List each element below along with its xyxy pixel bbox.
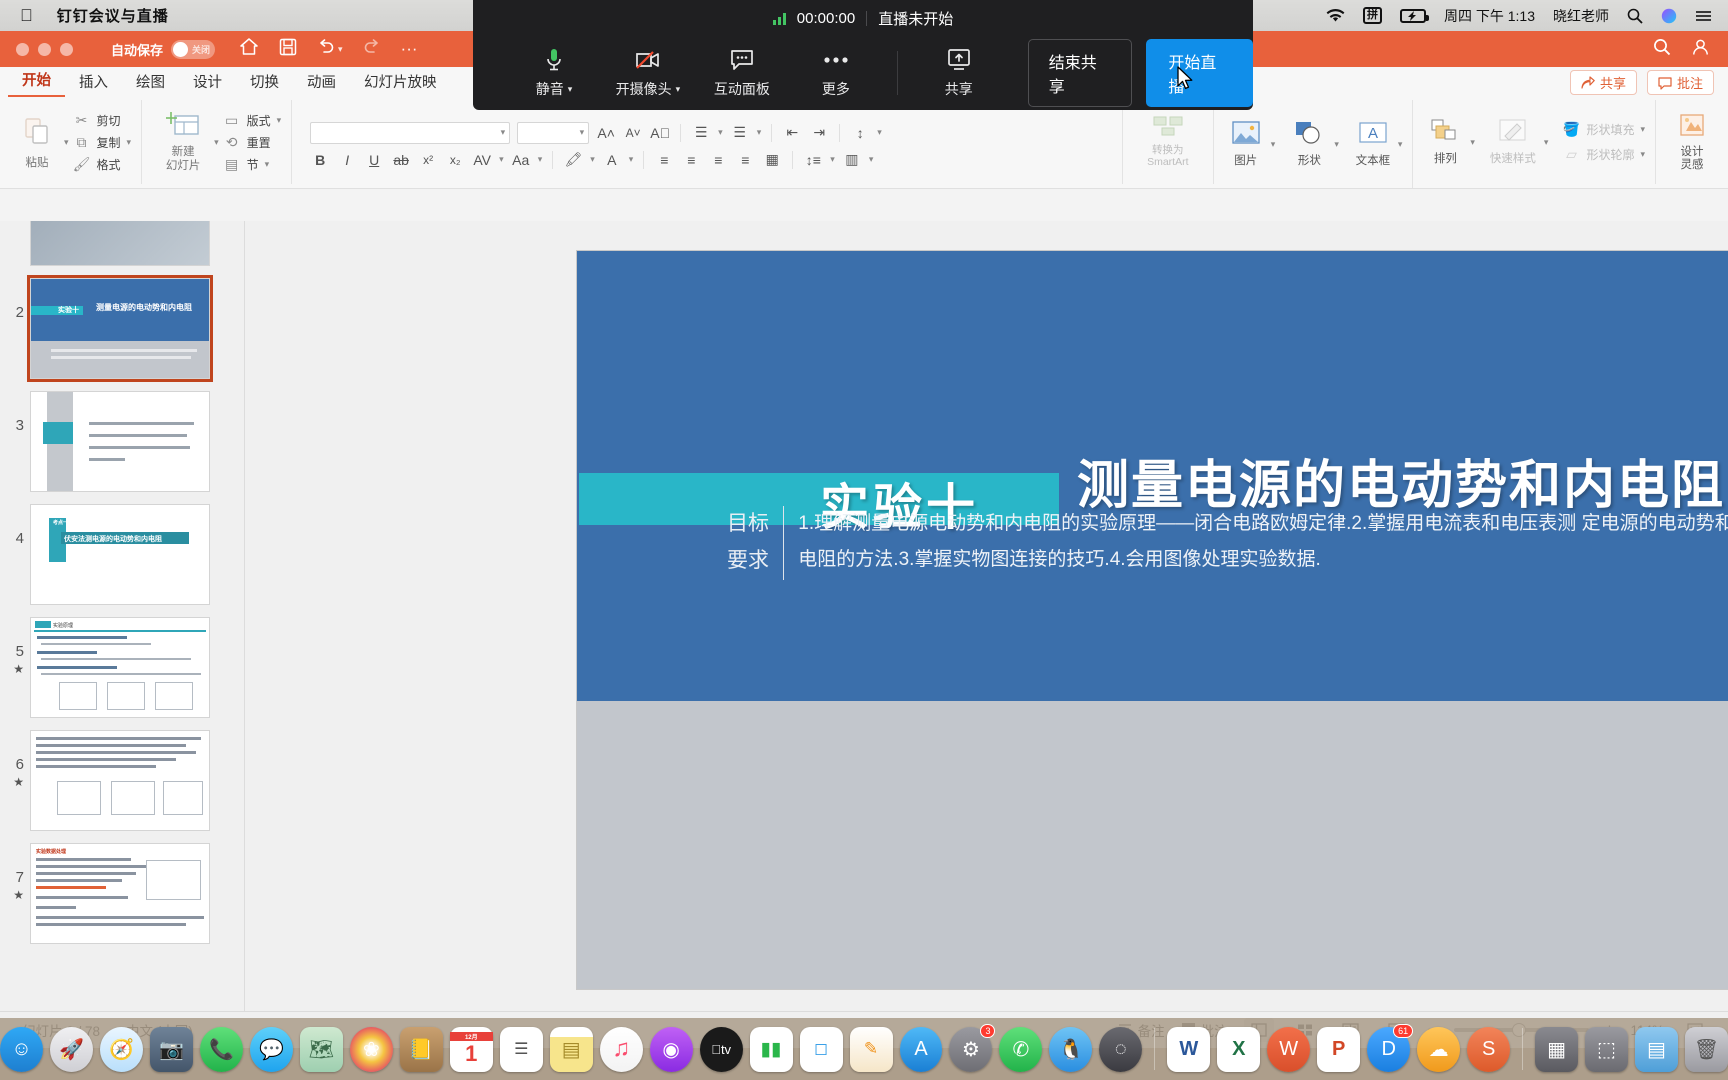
shape-outline-label: 形状轮廓 bbox=[1586, 146, 1634, 163]
active-app-name[interactable]: 钉钉会议与直播 bbox=[57, 5, 169, 26]
smartart-group: 转换为 SmartArt bbox=[1123, 100, 1214, 184]
tab-design[interactable]: 设计 bbox=[179, 68, 236, 97]
chevron-down-icon[interactable]: ▾ bbox=[676, 84, 681, 95]
dingtalk-controls-row: 静音▾ 开摄像头▾ 互动面板 更多 bbox=[473, 36, 1253, 110]
paste-label: 粘贴 bbox=[26, 154, 49, 170]
layout-dropdown-icon[interactable]: ▾ bbox=[277, 115, 282, 126]
dock-app-pages[interactable]: ✎ bbox=[850, 1027, 893, 1072]
undo-dropdown-icon[interactable]: ▾ bbox=[338, 44, 343, 55]
layout-button[interactable]: ▭ 版式 ▾ bbox=[223, 112, 282, 129]
reset-icon: ⟲ bbox=[223, 134, 241, 151]
meeting-timer: 00:00:00 bbox=[797, 10, 855, 27]
divider bbox=[866, 11, 867, 26]
mute-label: 静音 bbox=[536, 79, 564, 99]
ribbon-search-icon[interactable] bbox=[1653, 38, 1671, 61]
paste-button[interactable]: 粘贴 bbox=[10, 115, 64, 170]
redo-icon[interactable] bbox=[363, 39, 381, 60]
list-item[interactable]: 3 bbox=[0, 385, 244, 498]
tab-animations[interactable]: 动画 bbox=[293, 68, 350, 97]
chat-panel-icon bbox=[730, 47, 754, 73]
list-item[interactable]: 5 ★ 实验原理 bbox=[0, 611, 244, 724]
picture-icon bbox=[1232, 121, 1260, 149]
copy-dropdown-icon[interactable]: ▾ bbox=[127, 137, 132, 148]
thumb-tag: 考点一 bbox=[53, 519, 68, 526]
italic-icon[interactable]: I bbox=[337, 152, 357, 168]
dock-app-cloud-drive[interactable]: ☁ bbox=[1417, 1027, 1460, 1072]
tab-draw[interactable]: 绘图 bbox=[122, 68, 179, 97]
list-item[interactable]: 7 ★ 实验数据处理 bbox=[0, 837, 244, 950]
dock-app-notes[interactable]: ▤ bbox=[550, 1027, 593, 1072]
font-name-input[interactable]: ▾ bbox=[310, 122, 510, 144]
shape-icon bbox=[1295, 121, 1323, 149]
siri-icon[interactable] bbox=[1661, 8, 1677, 24]
list-item[interactable]: 2 实验十 测量电源的电动势和内电阻 bbox=[0, 272, 244, 385]
align-left-icon[interactable]: ≡ bbox=[654, 152, 674, 168]
share-label: 共享 bbox=[1600, 73, 1626, 92]
dock-app-podcasts[interactable]: ◉ bbox=[650, 1027, 693, 1072]
layout-label: 版式 bbox=[247, 112, 271, 129]
dock-app-powerpoint[interactable]: P bbox=[1317, 1027, 1360, 1072]
shape-dropdown-icon[interactable]: ▾ bbox=[1334, 139, 1339, 150]
smartart-label-2: SmartArt bbox=[1147, 156, 1188, 168]
share-screen-label: 共享 bbox=[945, 79, 973, 99]
design-ideas-button[interactable]: 设计 灵感 bbox=[1666, 113, 1718, 171]
interactive-panel-button[interactable]: 互动面板 bbox=[695, 47, 789, 99]
quick-style-button[interactable]: 快速样式 bbox=[1485, 119, 1541, 166]
font-color-icon[interactable]: A bbox=[602, 152, 622, 168]
tab-slideshow[interactable]: 幻灯片放映 bbox=[350, 68, 451, 97]
slide-canvas[interactable]: 实验十 测量电源的电动势和内电阻 目标 要求 1.理解测量电源电动势和内电阻的实… bbox=[577, 251, 1728, 989]
search-icon[interactable] bbox=[1627, 8, 1643, 24]
grow-font-icon[interactable]: A˄ bbox=[596, 125, 616, 141]
section-button[interactable]: ▤ 节 ▾ bbox=[223, 156, 282, 173]
paintbrush-icon: 🖌 bbox=[73, 156, 91, 173]
undo-icon[interactable] bbox=[317, 39, 335, 60]
quick-style-icon bbox=[1499, 119, 1527, 147]
textbox-label: 文本框 bbox=[1356, 152, 1391, 168]
battery-icon[interactable] bbox=[1400, 9, 1426, 23]
autosave-label: 自动保存 bbox=[111, 40, 163, 59]
new-slide-button[interactable]: 新建 幻灯片 bbox=[152, 111, 214, 172]
clear-formatting-icon[interactable]: A⃠ bbox=[650, 125, 670, 141]
screen-root:  钉钉会议与直播 拼 周四 下午 1:13 晓红老师 bbox=[0, 0, 1728, 1080]
live-status: 直播未开始 bbox=[878, 8, 953, 29]
dock-divider bbox=[1154, 1028, 1155, 1070]
arrange-dropdown-icon[interactable]: ▾ bbox=[1470, 137, 1475, 148]
user-name[interactable]: 晓红老师 bbox=[1553, 6, 1609, 26]
thumb-title: 实验数据处理 bbox=[36, 848, 66, 855]
save-icon[interactable] bbox=[279, 38, 297, 61]
copy-button[interactable]: ⧉ 复制 ▾ bbox=[73, 134, 132, 151]
convert-to-smartart-button[interactable]: 转换为 SmartArt bbox=[1133, 115, 1203, 168]
picture-label: 图片 bbox=[1234, 152, 1257, 168]
dock-app-finder[interactable]: ☺ bbox=[0, 1027, 43, 1072]
smartart-icon bbox=[1153, 115, 1183, 142]
dock-app-system-settings[interactable]: ⚙3 bbox=[949, 1027, 992, 1072]
thumb-star-icon: ★ bbox=[13, 775, 24, 789]
dock-app-qq[interactable]: 🐧 bbox=[1049, 1027, 1092, 1072]
dingtalk-meeting-toolbar[interactable]: 00:00:00 直播未开始 静音▾ 开摄像头▾ 互动面 bbox=[473, 0, 1253, 110]
design-ideas-label-1: 设计 bbox=[1681, 146, 1704, 158]
list-item[interactable] bbox=[0, 221, 244, 272]
goal-label-line2: 要求 bbox=[727, 549, 769, 572]
columns-icon[interactable]: ▥ bbox=[842, 151, 862, 168]
thumb-number: 5 bbox=[16, 643, 24, 660]
thumb-number: 3 bbox=[16, 417, 24, 434]
window-controls[interactable] bbox=[16, 43, 73, 56]
badge-count: 61 bbox=[1393, 1024, 1413, 1038]
interactive-panel-label: 互动面板 bbox=[714, 79, 770, 99]
dock-app-calendar[interactable]: 12月1 bbox=[450, 1027, 493, 1072]
goal-text: 1.理解测量电源电动势和内电阻的实验原理——闭合电路欧姆定律.2.掌握用电流表和… bbox=[798, 506, 1728, 580]
copy-icon: ⧉ bbox=[73, 134, 91, 151]
mute-button[interactable]: 静音▾ bbox=[507, 47, 601, 99]
slide-goal-box[interactable]: 目标 要求 1.理解测量电源电动势和内电阻的实验原理——闭合电路欧姆定律.2.掌… bbox=[727, 506, 1728, 580]
thumb-card[interactable]: 考点一 伏安法测电源的电动势和内电阻 bbox=[30, 504, 210, 605]
line-spacing-icon[interactable]: ↕≡ bbox=[803, 152, 823, 168]
tab-home[interactable]: 开始 bbox=[8, 66, 65, 97]
share-screen-button[interactable]: 共享 bbox=[912, 47, 1006, 99]
layout-icon: ▭ bbox=[223, 112, 241, 129]
divider bbox=[897, 51, 898, 95]
shape-fill-icon: 🪣 bbox=[1562, 121, 1580, 138]
section-dropdown-icon[interactable]: ▾ bbox=[265, 159, 270, 170]
reset-button[interactable]: ⟲ 重置 bbox=[223, 134, 282, 151]
start-live-button[interactable]: 开始直播 bbox=[1146, 39, 1253, 107]
slides-group: 新建 幻灯片 ▾ ▭ 版式 ▾ ⟲ 重置 ▤ bbox=[142, 100, 292, 184]
reset-label: 重置 bbox=[247, 134, 271, 151]
editor-workspace: 2 实验十 测量电源的电动势和内电阻 3 bbox=[0, 221, 1728, 1011]
input-method-icon[interactable]: 拼 bbox=[1363, 7, 1382, 24]
smartart-label-1: 转换为 bbox=[1152, 144, 1184, 156]
change-case-icon[interactable]: Aa bbox=[511, 152, 531, 168]
microphone-icon bbox=[544, 47, 564, 73]
dock-app-contacts[interactable]: 📒 bbox=[400, 1027, 443, 1072]
dock-app-photos[interactable]: ❀ bbox=[350, 1027, 393, 1072]
thumb-card[interactable] bbox=[30, 391, 210, 492]
shape-fill-label: 形状填充 bbox=[1586, 121, 1634, 138]
font-row: ▾ ▾ A˄ A˅ A⃠ ☰▾ ☰▾ ⇤ ⇥ ↕▾ bbox=[310, 122, 1104, 144]
thumb-card[interactable]: 实验原理 bbox=[30, 617, 210, 718]
ribbon-content: 粘贴 ▾ ✂ 剪切 ⧉ 复制 ▾ 🖌 格式 bbox=[0, 97, 1728, 189]
textbox-icon: A bbox=[1358, 121, 1388, 149]
camera-label: 开摄像头 bbox=[616, 79, 672, 99]
thumb-title: 实验原理 bbox=[53, 622, 73, 629]
section-label: 节 bbox=[247, 156, 259, 173]
dock-app-safari[interactable]: 🧭 bbox=[100, 1027, 143, 1072]
bold-icon[interactable]: B bbox=[310, 152, 330, 168]
copy-label: 复制 bbox=[97, 134, 121, 151]
dock-app-dingtalk[interactable]: D61 bbox=[1367, 1027, 1410, 1072]
dock-app-messages[interactable]: 💬 bbox=[250, 1027, 293, 1072]
slide-thumbnail-panel[interactable]: 2 实验十 测量电源的电动势和内电阻 3 bbox=[0, 221, 245, 1011]
maximize-button[interactable] bbox=[60, 43, 73, 56]
share-button[interactable]: 共享 bbox=[1570, 70, 1637, 95]
dock-app-launchpad[interactable]: 🚀 bbox=[50, 1027, 93, 1072]
dock-folder-downloads[interactable]: ▤ bbox=[1635, 1027, 1678, 1072]
thumb-number: 7 bbox=[16, 869, 24, 886]
shape-fill-button[interactable]: 🪣 形状填充 ▾ bbox=[1562, 121, 1645, 138]
dock-divider bbox=[1522, 1028, 1523, 1070]
decrease-indent-icon[interactable]: ⇤ bbox=[782, 124, 802, 141]
font-size-input[interactable]: ▾ bbox=[517, 122, 589, 144]
minimize-button[interactable] bbox=[38, 43, 51, 56]
new-slide-icon bbox=[166, 111, 200, 143]
svg-text:A: A bbox=[1368, 125, 1378, 142]
scissors-icon: ✂ bbox=[73, 112, 91, 129]
thumb-title: 伏安法测电源的电动势和内电阻 bbox=[64, 534, 162, 544]
arrange-icon bbox=[1431, 119, 1459, 147]
subscript-icon[interactable]: x₂ bbox=[445, 153, 465, 167]
comment-label: 批注 bbox=[1677, 73, 1703, 92]
thumb-star-icon: ★ bbox=[13, 662, 24, 676]
text-highlight-icon[interactable]: 🖍 bbox=[563, 151, 583, 168]
end-share-button[interactable]: 结束共享 bbox=[1028, 39, 1133, 107]
arrange-label: 排列 bbox=[1434, 150, 1457, 166]
dock-app-maps[interactable]: 🗺 bbox=[300, 1027, 343, 1072]
close-button[interactable] bbox=[16, 43, 29, 56]
control-center-icon[interactable] bbox=[1695, 9, 1712, 23]
insert-picture-button[interactable]: 图片 bbox=[1224, 121, 1268, 168]
tab-insert[interactable]: 插入 bbox=[65, 68, 122, 97]
dock-app-photo-booth[interactable]: 📷 bbox=[150, 1027, 193, 1072]
insert-textbox-button[interactable]: A 文本框 bbox=[1351, 121, 1395, 168]
shape-outline-button[interactable]: ▱ 形状轮廓 ▾ bbox=[1562, 146, 1645, 163]
list-item[interactable]: 4 考点一 伏安法测电源的电动势和内电阻 bbox=[0, 498, 244, 611]
dock-app-screenshot[interactable]: ⬚ bbox=[1585, 1027, 1628, 1072]
autosave-control[interactable]: 自动保存 关闭 bbox=[111, 40, 215, 59]
share-screen-icon bbox=[947, 47, 971, 73]
drawing-group: 排列 ▾ 快速样式 ▾ 🪣 形状填充 bbox=[1413, 100, 1656, 184]
thumb-number: 2 bbox=[16, 304, 24, 321]
toggle-knob bbox=[173, 42, 188, 57]
format-label: 格式 bbox=[97, 156, 121, 173]
shrink-font-icon[interactable]: A˅ bbox=[623, 126, 643, 140]
increase-indent-icon[interactable]: ⇥ bbox=[809, 124, 829, 141]
goal-divider bbox=[783, 506, 784, 580]
dock-app-apple-tv[interactable]: tv bbox=[700, 1027, 743, 1072]
camera-off-icon bbox=[635, 47, 661, 73]
picture-dropdown-icon[interactable]: ▾ bbox=[1271, 139, 1276, 150]
goal-label: 目标 要求 bbox=[727, 506, 769, 580]
designer-group: 设计 灵感 bbox=[1656, 100, 1728, 184]
slide-canvas-area: 实验十 测量电源的电动势和内电阻 目标 要求 1.理解测量电源电动势和内电阻的实… bbox=[245, 221, 1728, 1011]
clock[interactable]: 周四 下午 1:13 bbox=[1444, 6, 1535, 26]
autosave-state: 关闭 bbox=[192, 43, 210, 56]
apple-menu-icon[interactable]:  bbox=[20, 7, 33, 24]
dock-app-reminders[interactable]: ☰ bbox=[500, 1027, 543, 1072]
text-direction-icon[interactable]: ↕ bbox=[850, 125, 870, 141]
more-dots-icon bbox=[823, 47, 849, 73]
paste-icon bbox=[22, 115, 52, 151]
thumb-card[interactable] bbox=[30, 221, 210, 266]
dock-app-excel[interactable]: X bbox=[1217, 1027, 1260, 1072]
align-center-icon[interactable]: ≡ bbox=[681, 152, 701, 168]
dock-app-facetime[interactable]: 📞 bbox=[200, 1027, 243, 1072]
dock-app-wps[interactable]: W bbox=[1267, 1027, 1310, 1072]
new-slide-label-2: 幻灯片 bbox=[166, 160, 201, 172]
dock-trash[interactable]: 🗑 bbox=[1685, 1027, 1728, 1072]
quick-style-dropdown-icon[interactable]: ▾ bbox=[1544, 137, 1549, 148]
list-item[interactable]: 6 ★ bbox=[0, 724, 244, 837]
superscript-icon[interactable]: x² bbox=[418, 153, 438, 167]
bullets-icon[interactable]: ☰ bbox=[691, 124, 711, 141]
format-painter-button[interactable]: 🖌 格式 bbox=[73, 156, 132, 173]
signal-strength-icon bbox=[773, 12, 786, 25]
new-slide-label-1: 新建 bbox=[172, 146, 195, 158]
thumb-number: 6 bbox=[16, 756, 24, 773]
justify-icon[interactable]: ≡ bbox=[735, 152, 755, 168]
cut-button[interactable]: ✂ 剪切 bbox=[73, 112, 132, 129]
more-icon[interactable]: ··· bbox=[401, 39, 418, 59]
thumb-card[interactable]: 实验数据处理 bbox=[30, 843, 210, 944]
arrange-button[interactable]: 排列 bbox=[1423, 119, 1467, 166]
dock-app-app-store[interactable]: A bbox=[900, 1027, 943, 1072]
dock-app-word[interactable]: W bbox=[1167, 1027, 1210, 1072]
thumb-tag: 实验十 bbox=[58, 305, 79, 315]
macos-dock[interactable]: ☺ 🚀 🧭 📷 📞 💬 🗺 ❀ 📒 12月1 ☰ ▤ ♫ ◉ tv ▮▮ ◻ … bbox=[0, 1018, 1728, 1080]
insert-shape-button[interactable]: 形状 bbox=[1287, 121, 1331, 168]
dock-app-numbers[interactable]: ▮▮ bbox=[750, 1027, 793, 1072]
account-icon[interactable] bbox=[1691, 38, 1710, 61]
design-ideas-label-2: 灵感 bbox=[1681, 159, 1704, 171]
tab-transitions[interactable]: 切换 bbox=[236, 68, 293, 97]
thumb-number: 4 bbox=[16, 530, 24, 547]
thumb-card[interactable] bbox=[30, 730, 210, 831]
more-label: 更多 bbox=[822, 79, 850, 99]
shape-outline-icon: ▱ bbox=[1562, 146, 1580, 163]
thumb-star-icon: ★ bbox=[13, 888, 24, 902]
dock-app-wechat[interactable]: ✆ bbox=[999, 1027, 1042, 1072]
cut-label: 剪切 bbox=[97, 112, 121, 129]
thumb-title: 测量电源的电动势和内电阻 bbox=[96, 303, 201, 313]
section-icon: ▤ bbox=[223, 156, 241, 173]
quick-style-label: 快速样式 bbox=[1490, 150, 1536, 166]
thumb-card-selected[interactable]: 实验十 测量电源的电动势和内电阻 bbox=[30, 278, 210, 379]
underline-icon[interactable]: U bbox=[364, 152, 384, 168]
wifi-icon[interactable] bbox=[1326, 9, 1345, 23]
chevron-down-icon[interactable]: ▾ bbox=[568, 84, 573, 95]
shape-label: 形状 bbox=[1298, 152, 1321, 168]
dingtalk-status-row: 00:00:00 直播未开始 bbox=[473, 0, 1253, 36]
insert-group: 图片 ▾ 形状 ▾ A bbox=[1214, 100, 1414, 188]
home-icon[interactable] bbox=[239, 37, 259, 61]
character-spacing-icon[interactable]: AV bbox=[472, 152, 492, 168]
powerpoint-window: 自动保存 关闭 ▾ bbox=[0, 31, 1728, 1048]
dock-app-keynote[interactable]: ◻ bbox=[800, 1027, 843, 1072]
design-ideas-icon bbox=[1678, 113, 1706, 143]
goal-label-line1: 目标 bbox=[727, 512, 769, 535]
comment-button[interactable]: 批注 bbox=[1647, 70, 1714, 95]
dock-app-sogou[interactable]: S bbox=[1467, 1027, 1510, 1072]
numbering-icon[interactable]: ☰ bbox=[730, 124, 750, 141]
distribute-icon[interactable]: ▦ bbox=[762, 151, 782, 168]
autosave-toggle[interactable]: 关闭 bbox=[171, 40, 215, 59]
font-paragraph-group: ▾ ▾ A˄ A˅ A⃠ ☰▾ ☰▾ ⇤ ⇥ ↕▾ bbox=[292, 100, 1123, 184]
align-right-icon[interactable]: ≡ bbox=[708, 152, 728, 168]
camera-button[interactable]: 开摄像头▾ bbox=[601, 47, 695, 99]
dock-app-calculator[interactable]: ▦ bbox=[1535, 1027, 1578, 1072]
goal-text-line1: 1.理解测量电源电动势和内电阻的实验原理——闭合电路欧姆定律.2.掌握用电流表和… bbox=[798, 513, 1576, 534]
more-button[interactable]: 更多 bbox=[789, 47, 883, 99]
dock-app-spotlight[interactable]: ◌ bbox=[1099, 1027, 1142, 1072]
textbox-dropdown-icon[interactable]: ▾ bbox=[1398, 139, 1403, 150]
dock-app-music[interactable]: ♫ bbox=[600, 1027, 643, 1072]
paragraph-row: B I U ab x² x₂ AV▾ Aa▾ 🖍▾ A▾ ≡ ≡ bbox=[310, 151, 1104, 169]
clipboard-group: 粘贴 ▾ ✂ 剪切 ⧉ 复制 ▾ 🖌 格式 bbox=[0, 100, 142, 184]
badge-count: 3 bbox=[980, 1024, 995, 1038]
strikethrough-icon[interactable]: ab bbox=[391, 152, 411, 168]
